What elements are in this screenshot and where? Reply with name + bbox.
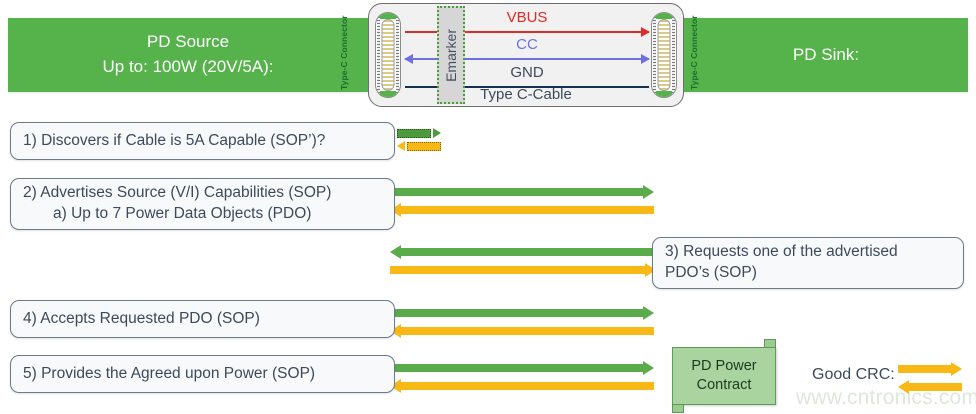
good-crc-right-head bbox=[951, 362, 962, 376]
good-crc-arrow-right bbox=[898, 362, 962, 376]
step-4-yellow-shaft bbox=[401, 327, 654, 335]
pd-source-rating: Up to: 100W (20V/5A): bbox=[102, 55, 273, 80]
step-5-arrow-green-right bbox=[390, 361, 654, 375]
cc-arrowhead-left bbox=[404, 54, 413, 64]
pd-sink-title: PD Sink: bbox=[793, 43, 859, 68]
step-4-arrow-green-right bbox=[390, 306, 654, 320]
step-3-box[interactable]: 3) Requests one of the advertised PDO’s … bbox=[652, 237, 964, 289]
step-2-line-1: 2) Advertises Source (V/I) Capabilities … bbox=[23, 183, 382, 204]
step-3-line-1: 3) Requests one of the advertised bbox=[665, 242, 951, 263]
step-4-line-1: 4) Accepts Requested PDO (SOP) bbox=[23, 309, 382, 330]
pd-source-band: PD Source Up to: 100W (20V/5A): bbox=[8, 18, 368, 92]
good-crc-label: Good CRC: bbox=[812, 366, 895, 384]
step-2-box[interactable]: 2) Advertises Source (V/I) Capabilities … bbox=[10, 178, 395, 230]
step-1-arrow-green-shaft bbox=[397, 129, 431, 138]
step-1-box[interactable]: 1) Discovers if Cable is 5A Capable (SOP… bbox=[10, 122, 395, 160]
source-connector-caption: Type-C Connector bbox=[340, 20, 350, 90]
step-3-line-2: PDO’s (SOP) bbox=[665, 263, 951, 284]
step-2-line-2: a) Up to 7 Power Data Objects (PDO) bbox=[23, 204, 382, 225]
step-1-line-1: 1) Discovers if Cable is 5A Capable (SOP… bbox=[23, 131, 382, 152]
good-crc-left-shaft bbox=[909, 383, 962, 391]
contract-note-line-1: PD Power bbox=[691, 357, 756, 376]
step-2-green-head bbox=[643, 185, 654, 199]
step-3-arrow-green-left bbox=[390, 245, 656, 259]
step-2-arrow-yellow-left bbox=[390, 203, 654, 217]
plug-right-pins-right bbox=[672, 17, 675, 95]
step-1-arrow-green-head bbox=[433, 128, 441, 138]
pd-source-text: PD Source Up to: 100W (20V/5A): bbox=[102, 30, 273, 79]
emarker-block: Emarker bbox=[437, 6, 465, 104]
sink-connector-caption: Type-C Connector bbox=[690, 20, 700, 90]
pd-negotiation-diagram: PD Source Up to: 100W (20V/5A): PD Sink:… bbox=[0, 0, 976, 414]
plug-right-pins-left bbox=[653, 17, 656, 95]
step-2-arrow-green-right bbox=[390, 185, 654, 199]
cable-caption: Type C-Cable bbox=[369, 86, 683, 103]
emarker-label: Emarker bbox=[443, 29, 459, 82]
step-1-arrow-yellow-head bbox=[397, 141, 405, 151]
pd-source-title: PD Source bbox=[102, 30, 273, 55]
step-3-arrow-yellow-right bbox=[390, 263, 656, 277]
note-curl-bottom-left bbox=[672, 404, 684, 413]
good-crc-right-shaft bbox=[898, 365, 951, 373]
pd-power-contract-note: PD Power Contract bbox=[672, 347, 776, 405]
step-5-green-shaft bbox=[390, 364, 643, 372]
step-3-green-shaft bbox=[401, 248, 656, 256]
cc-arrowhead-right bbox=[641, 54, 650, 64]
plug-left-pins-right bbox=[396, 17, 399, 95]
step-1-arrow-yellow-shaft bbox=[407, 142, 441, 151]
step-5-box[interactable]: 5) Provides the Agreed upon Power (SOP) bbox=[10, 355, 395, 393]
step-2-green-shaft bbox=[390, 188, 643, 196]
step-5-arrow-yellow-left bbox=[390, 379, 654, 393]
good-crc-left-head bbox=[898, 380, 909, 394]
plug-left-contacts bbox=[382, 19, 395, 91]
step-3-yellow-shaft bbox=[390, 266, 645, 274]
step-4-arrow-yellow-left bbox=[390, 324, 654, 338]
plug-left-pins-left bbox=[377, 17, 380, 95]
step-5-yellow-shaft bbox=[401, 382, 654, 390]
step-1-arrow-yellow-left bbox=[397, 142, 441, 151]
good-crc-arrow-left bbox=[898, 380, 962, 394]
pd-sink-band: PD Sink: bbox=[684, 18, 968, 92]
contract-note-line-2: Contract bbox=[697, 376, 752, 395]
step-5-green-head bbox=[643, 361, 654, 375]
plug-right-contacts bbox=[658, 19, 671, 91]
step-4-box[interactable]: 4) Accepts Requested PDO (SOP) bbox=[10, 300, 395, 338]
step-4-green-head bbox=[643, 306, 654, 320]
step-4-green-shaft bbox=[390, 309, 643, 317]
step-1-arrow-green-right bbox=[397, 129, 441, 138]
step-3-green-head bbox=[390, 245, 401, 259]
note-curl-top-right bbox=[764, 339, 776, 348]
type-c-cable-body: VBUS CC GND Type C-Cable bbox=[368, 3, 684, 107]
step-5-line-1: 5) Provides the Agreed upon Power (SOP) bbox=[23, 364, 382, 385]
step-2-yellow-shaft bbox=[401, 206, 654, 214]
